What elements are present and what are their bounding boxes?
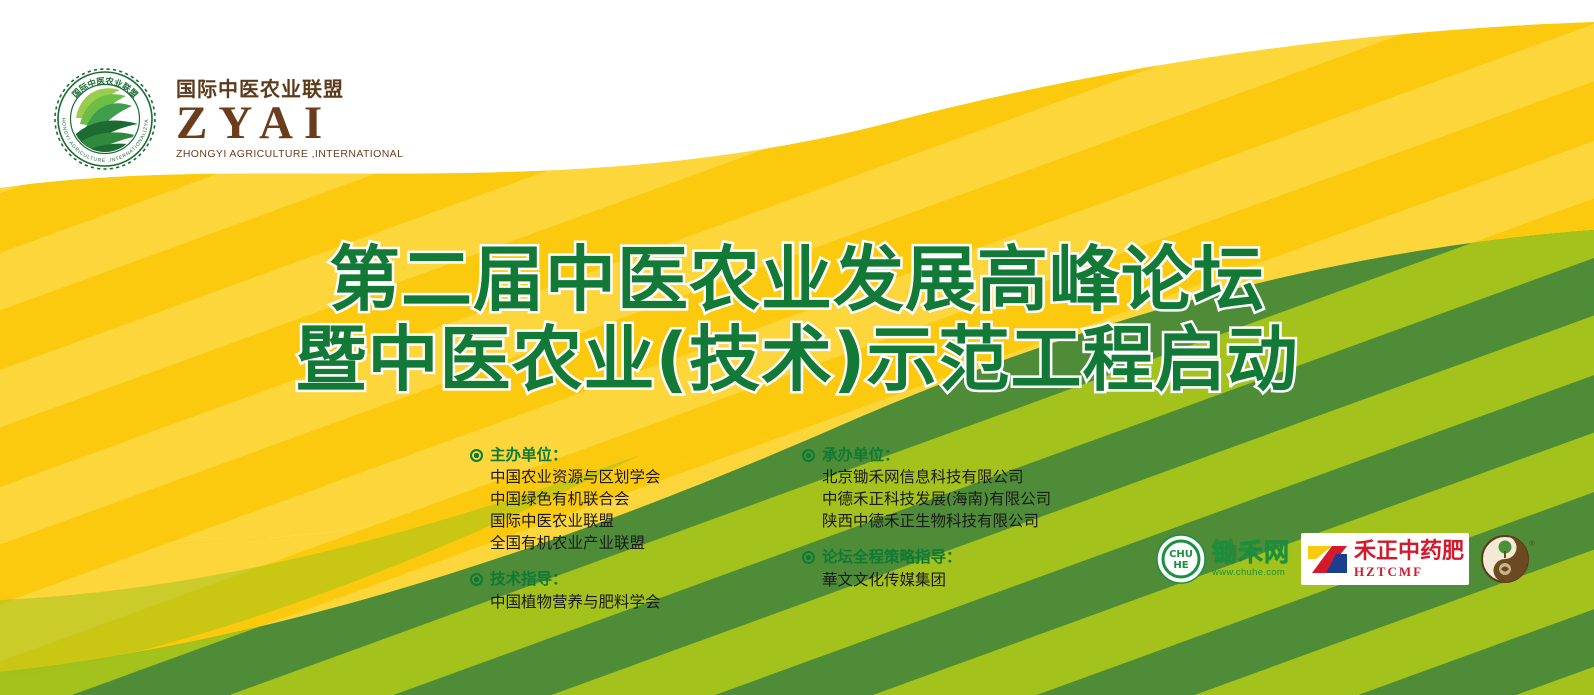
- list-item: 中国绿色有机联合会: [490, 488, 758, 510]
- info-group-tech-guidance: 技术指导： 中国植物营养与肥料学会: [470, 570, 758, 612]
- bullet-icon: [802, 449, 815, 462]
- group-heading-row: 技术指导：: [470, 570, 758, 589]
- group-heading-row: 承办单位：: [802, 446, 1090, 465]
- poster-canvas: 国际中医农业联盟 ZHONGYI AGRICULTURE .INTERNATIO…: [0, 0, 1594, 695]
- group-heading: 主办单位：: [490, 446, 568, 465]
- hztcmf-wordmark: 禾正中药肥 HZTCMF: [1354, 541, 1464, 578]
- sponsor-logo-hztcmf: 禾正中药肥 HZTCMF: [1301, 533, 1469, 585]
- bullet-icon: [470, 573, 483, 586]
- group-item-list: 北京锄禾网信息科技有限公司 中德禾正科技发展(海南)有限公司 陕西中德禾正生物科…: [822, 466, 1090, 532]
- chuhe-name-cn: 锄禾网: [1212, 540, 1290, 565]
- sponsor-logo-row: CHU HE 锄禾网 www.chuhe.com 禾正中药肥: [1156, 528, 1538, 590]
- hztcmf-name-en: HZTCMF: [1354, 565, 1464, 578]
- info-column-left: 主办单位： 中国农业资源与区划学会 中国绿色有机联合会 国际中医农业联盟 全国有…: [470, 446, 758, 613]
- group-heading-row: 论坛全程策略指导：: [802, 548, 1090, 567]
- bullet-icon: [470, 449, 483, 462]
- list-item: 中国植物营养与肥料学会: [490, 591, 758, 613]
- group-item-list: 華文文化传媒集团: [822, 569, 1090, 591]
- bullet-icon: [802, 551, 815, 564]
- logo-acronym: ZYAI: [176, 100, 403, 148]
- organizer-info: 主办单位： 中国农业资源与区划学会 中国绿色有机联合会 国际中医农业联盟 全国有…: [470, 446, 1090, 613]
- sponsor-logo-tree-seal: ®: [1480, 534, 1538, 584]
- info-group-host: 主办单位： 中国农业资源与区划学会 中国绿色有机联合会 国际中医农业联盟 全国有…: [470, 446, 758, 554]
- info-group-organizer: 承办单位： 北京锄禾网信息科技有限公司 中德禾正科技发展(海南)有限公司 陕西中…: [802, 446, 1090, 532]
- info-column-right: 承办单位： 北京锄禾网信息科技有限公司 中德禾正科技发展(海南)有限公司 陕西中…: [802, 446, 1090, 613]
- chuhe-url: www.chuhe.com: [1212, 568, 1290, 578]
- group-item-list: 中国农业资源与区划学会 中国绿色有机联合会 国际中医农业联盟 全国有机农业产业联…: [490, 466, 758, 554]
- group-heading: 技术指导：: [490, 570, 568, 589]
- list-item: 中国农业资源与区划学会: [490, 466, 758, 488]
- list-item: 国际中医农业联盟: [490, 510, 758, 532]
- list-item: 陕西中德禾正生物科技有限公司: [822, 510, 1090, 532]
- logo-name-cn: 国际中医农业联盟: [176, 79, 403, 99]
- sponsor-logo-chuhe: CHU HE 锄禾网 www.chuhe.com: [1156, 532, 1290, 586]
- info-group-strategic-guidance: 论坛全程策略指导： 華文文化传媒集团: [802, 548, 1090, 590]
- svg-text:CHU: CHU: [1169, 549, 1193, 560]
- list-item: 全国有机农业产业联盟: [490, 532, 758, 554]
- zyai-logo-lockup: 国际中医农业联盟 ZHONGYI AGRICULTURE .INTERNATIO…: [52, 63, 352, 175]
- zyai-seal-icon: 国际中医农业联盟 ZHONGYI AGRICULTURE .INTERNATIO…: [52, 66, 158, 172]
- list-item: 中德禾正科技发展(海南)有限公司: [822, 488, 1090, 510]
- hztcmf-name-cn: 禾正中药肥: [1354, 541, 1464, 563]
- list-item: 華文文化传媒集团: [822, 569, 1090, 591]
- group-heading: 论坛全程策略指导：: [822, 548, 962, 567]
- logo-name-en: ZHONGYI AGRICULTURE ,INTERNATIONAL: [176, 149, 403, 160]
- list-item: 北京锄禾网信息科技有限公司: [822, 466, 1090, 488]
- tree-seal-trademark: ®: [1529, 540, 1535, 548]
- chuhe-wordmark: 锄禾网 www.chuhe.com: [1212, 540, 1290, 578]
- group-item-list: 中国植物营养与肥料学会: [490, 591, 758, 613]
- chuhe-seal-icon: CHU HE: [1156, 534, 1206, 584]
- group-heading-row: 主办单位：: [470, 446, 758, 465]
- group-heading: 承办单位：: [822, 446, 900, 465]
- logo-wordmark: 国际中医农业联盟 ZYAI ZHONGYI AGRICULTURE ,INTER…: [176, 79, 403, 159]
- hztcmf-z-mark-icon: [1306, 540, 1349, 578]
- svg-text:HE: HE: [1173, 560, 1188, 571]
